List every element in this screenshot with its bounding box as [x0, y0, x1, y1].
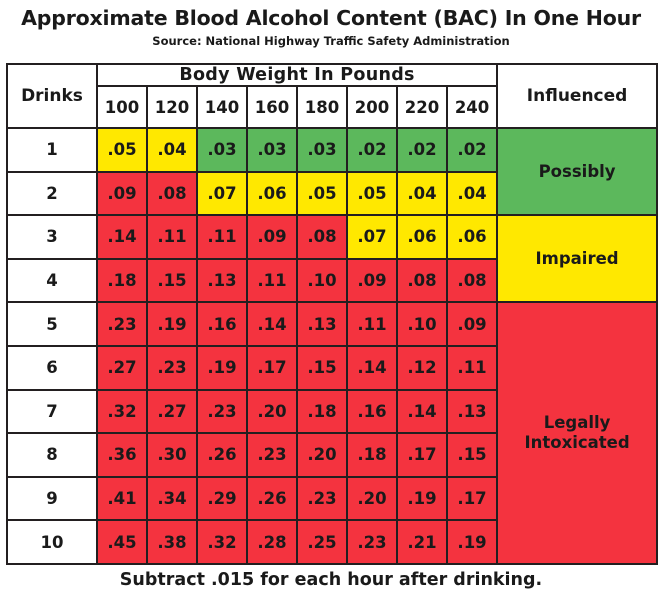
- drinks-cell: 10: [7, 520, 97, 564]
- column-header-influenced: Influenced: [497, 64, 657, 128]
- bac-cell: .19: [397, 477, 447, 521]
- bac-cell: .28: [247, 520, 297, 564]
- drinks-cell: 7: [7, 390, 97, 434]
- bac-cell: .07: [197, 172, 247, 216]
- category-cell-possibly: Possibly: [497, 128, 657, 215]
- bac-cell: .13: [197, 259, 247, 303]
- bac-cell: .41: [97, 477, 147, 521]
- weight-header-240: 240: [447, 86, 497, 128]
- drinks-cell: 8: [7, 433, 97, 477]
- bac-cell: .15: [297, 346, 347, 390]
- bac-cell: .19: [147, 302, 197, 346]
- bac-cell: .36: [97, 433, 147, 477]
- drinks-cell: 5: [7, 302, 97, 346]
- bac-cell: .03: [197, 128, 247, 172]
- bac-cell: .08: [447, 259, 497, 303]
- bac-cell: .14: [347, 346, 397, 390]
- bac-cell: .12: [397, 346, 447, 390]
- bac-cell: .15: [447, 433, 497, 477]
- bac-cell: .11: [147, 215, 197, 259]
- bac-cell: .23: [297, 477, 347, 521]
- bac-cell: .14: [247, 302, 297, 346]
- page-title: Approximate Blood Alcohol Content (BAC) …: [0, 0, 662, 30]
- weight-header-200: 200: [347, 86, 397, 128]
- bac-chart-page: Approximate Blood Alcohol Content (BAC) …: [0, 0, 662, 605]
- bac-cell: .25: [297, 520, 347, 564]
- bac-cell: .45: [97, 520, 147, 564]
- weight-header-160: 160: [247, 86, 297, 128]
- drinks-cell: 3: [7, 215, 97, 259]
- table-row: 3 .14 .11 .11 .09 .08 .07 .06 .06 Impair…: [7, 215, 657, 259]
- bac-cell: .05: [347, 172, 397, 216]
- bac-cell: .10: [297, 259, 347, 303]
- bac-cell: .06: [397, 215, 447, 259]
- bac-cell: .09: [347, 259, 397, 303]
- category-line-1: Legally: [544, 413, 611, 432]
- bac-cell: .23: [147, 346, 197, 390]
- column-header-body-weight: Body Weight In Pounds: [97, 64, 497, 86]
- bac-table: Drinks Body Weight In Pounds Influenced …: [6, 63, 658, 565]
- table-head: Drinks Body Weight In Pounds Influenced …: [7, 64, 657, 128]
- bac-cell: .19: [197, 346, 247, 390]
- weight-header-220: 220: [397, 86, 447, 128]
- bac-cell: .04: [397, 172, 447, 216]
- bac-cell: .17: [447, 477, 497, 521]
- bac-cell: .05: [297, 172, 347, 216]
- bac-cell: .08: [297, 215, 347, 259]
- bac-cell: .02: [397, 128, 447, 172]
- drinks-cell: 9: [7, 477, 97, 521]
- bac-cell: .02: [347, 128, 397, 172]
- bac-cell: .18: [297, 390, 347, 434]
- bac-cell: .09: [447, 302, 497, 346]
- bac-cell: .26: [247, 477, 297, 521]
- bac-cell: .11: [247, 259, 297, 303]
- bac-cell: .21: [397, 520, 447, 564]
- column-header-drinks: Drinks: [7, 64, 97, 128]
- bac-cell: .32: [97, 390, 147, 434]
- weight-header-120: 120: [147, 86, 197, 128]
- drinks-cell: 2: [7, 172, 97, 216]
- bac-cell: .11: [347, 302, 397, 346]
- bac-cell: .16: [197, 302, 247, 346]
- bac-cell: .27: [147, 390, 197, 434]
- bac-cell: .38: [147, 520, 197, 564]
- bac-cell: .14: [397, 390, 447, 434]
- table-row: 1 .05 .04 .03 .03 .03 .02 .02 .02 Possib…: [7, 128, 657, 172]
- bac-cell: .11: [447, 346, 497, 390]
- bac-table-container: Drinks Body Weight In Pounds Influenced …: [6, 63, 656, 565]
- bac-cell: .13: [447, 390, 497, 434]
- bac-cell: .04: [147, 128, 197, 172]
- bac-cell: .16: [347, 390, 397, 434]
- bac-cell: .04: [447, 172, 497, 216]
- bac-cell: .07: [347, 215, 397, 259]
- drinks-cell: 4: [7, 259, 97, 303]
- weight-header-180: 180: [297, 86, 347, 128]
- bac-cell: .06: [447, 215, 497, 259]
- bac-cell: .29: [197, 477, 247, 521]
- bac-cell: .15: [147, 259, 197, 303]
- bac-cell: .20: [347, 477, 397, 521]
- table-row: 5 .23 .19 .16 .14 .13 .11 .10 .09 Legall…: [7, 302, 657, 346]
- table-body: 1 .05 .04 .03 .03 .03 .02 .02 .02 Possib…: [7, 128, 657, 564]
- category-line-2: Intoxicated: [524, 433, 629, 452]
- bac-cell: .09: [247, 215, 297, 259]
- bac-cell: .20: [247, 390, 297, 434]
- bac-cell: .23: [97, 302, 147, 346]
- category-cell-legally-intoxicated: LegallyIntoxicated: [497, 302, 657, 564]
- bac-cell: .18: [347, 433, 397, 477]
- bac-cell: .10: [397, 302, 447, 346]
- bac-cell: .09: [97, 172, 147, 216]
- bac-cell: .27: [97, 346, 147, 390]
- bac-cell: .02: [447, 128, 497, 172]
- page-subtitle: Source: National Highway Traffic Safety …: [0, 30, 662, 48]
- bac-cell: .03: [247, 128, 297, 172]
- bac-cell: .08: [397, 259, 447, 303]
- bac-cell: .06: [247, 172, 297, 216]
- bac-cell: .17: [247, 346, 297, 390]
- weight-header-100: 100: [97, 86, 147, 128]
- bac-cell: .20: [297, 433, 347, 477]
- header-row-groups: Drinks Body Weight In Pounds Influenced: [7, 64, 657, 86]
- drinks-cell: 1: [7, 128, 97, 172]
- bac-cell: .32: [197, 520, 247, 564]
- drinks-cell: 6: [7, 346, 97, 390]
- category-cell-impaired: Impaired: [497, 215, 657, 302]
- bac-cell: .08: [147, 172, 197, 216]
- bac-cell: .03: [297, 128, 347, 172]
- bac-cell: .14: [97, 215, 147, 259]
- bac-cell: .18: [97, 259, 147, 303]
- bac-cell: .26: [197, 433, 247, 477]
- bac-cell: .34: [147, 477, 197, 521]
- bac-cell: .19: [447, 520, 497, 564]
- weight-header-140: 140: [197, 86, 247, 128]
- bac-cell: .11: [197, 215, 247, 259]
- bac-cell: .23: [247, 433, 297, 477]
- footer-note: Subtract .015 for each hour after drinki…: [0, 570, 662, 590]
- bac-cell: .13: [297, 302, 347, 346]
- bac-cell: .23: [347, 520, 397, 564]
- bac-cell: .17: [397, 433, 447, 477]
- bac-cell: .30: [147, 433, 197, 477]
- bac-cell: .23: [197, 390, 247, 434]
- bac-cell: .05: [97, 128, 147, 172]
